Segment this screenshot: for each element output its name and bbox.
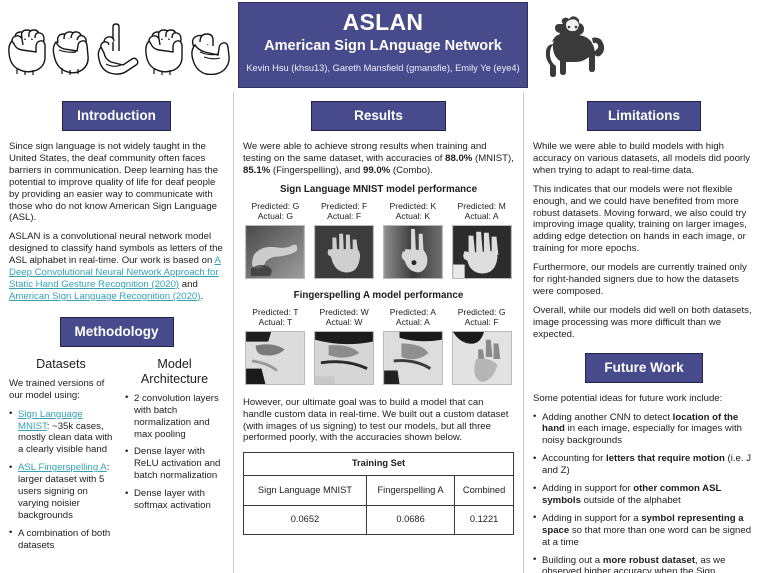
fw-item-3-pre: Adding in support for a xyxy=(542,513,641,524)
list-item: Dense layer with ReLU activation and bat… xyxy=(125,446,224,482)
list-item: 2 convolution layers with batch normaliz… xyxy=(125,393,224,441)
fw-item-4-bold: more robust dataset xyxy=(603,555,695,566)
poster-header-row: ASLAN American Sign LAnguage Network Kev… xyxy=(0,0,764,92)
list-item: Adding in support for other common ASL s… xyxy=(533,483,755,507)
section-header-future-work: Future Work xyxy=(585,353,702,383)
introduction-header-wrap: Introduction xyxy=(9,101,224,131)
table-value-cell: 0.1221 xyxy=(455,506,514,535)
link-asl-fingerspelling-a[interactable]: ASL Fingerspelling A xyxy=(18,462,107,473)
list-item: Adding in support for a symbol represent… xyxy=(533,513,755,549)
sample-card: Predicted: GActual: F xyxy=(449,307,514,385)
section-header-introduction: Introduction xyxy=(62,101,171,131)
poster-title: ASLAN xyxy=(245,9,521,36)
dataset-item-2-rest: A combination of both datasets xyxy=(18,528,110,551)
table-value-cell: 0.0686 xyxy=(366,506,454,535)
sample-actual-label: Actual: A xyxy=(396,317,430,327)
sample-predicted-label: Predicted: T xyxy=(252,307,298,317)
fw-item-2-post: outside of the alphabet xyxy=(581,495,681,506)
table-caption: Training Set xyxy=(244,453,514,476)
intro-p2-end: . xyxy=(200,291,203,302)
list-item: ASL Fingerspelling A: larger dataset wit… xyxy=(9,462,113,522)
hand-sign-thumbnail xyxy=(383,225,443,279)
column-left: Introduction Since sign language is not … xyxy=(0,92,233,573)
list-item: Adding another CNN to detect location of… xyxy=(533,412,755,448)
architecture-subsection: Model Architecture 2 convolution layers … xyxy=(125,357,224,558)
asl-fingerspelling-logo xyxy=(0,0,238,92)
sample-card: Predicted: WActual: W xyxy=(312,307,377,385)
sample-predicted-label: Predicted: F xyxy=(321,201,367,211)
limitations-paragraph-2: This indicates that our models were not … xyxy=(533,184,755,255)
limitations-paragraph-1: While we were able to build models with … xyxy=(533,141,755,177)
results-intro: We were able to achieve strong results w… xyxy=(243,141,514,177)
future-work-header-wrap: Future Work xyxy=(533,353,755,383)
poster-canvas: ASLAN American Sign LAnguage Network Kev… xyxy=(0,0,764,573)
datasets-intro: We trained versions of our model using: xyxy=(9,378,113,402)
poster-authors: Kevin Hsu (khsu13), Gareth Mansfield (gm… xyxy=(245,61,521,75)
list-item: A combination of both datasets xyxy=(9,528,113,552)
poster-columns: Introduction Since sign language is not … xyxy=(0,92,764,573)
sample-predicted-label: Predicted: A xyxy=(390,307,436,317)
sample-predicted-label: Predicted: K xyxy=(389,201,436,211)
sample-predicted-label: Predicted: M xyxy=(458,201,506,211)
poster-title-banner: ASLAN American Sign LAnguage Network Kev… xyxy=(238,2,528,88)
table-row: Sign Language MNIST Fingerspelling A Com… xyxy=(244,475,514,506)
training-set-table: Training Set Sign Language MNIST Fingers… xyxy=(243,452,514,535)
fw-item-3-post: so that more than one word can be signed… xyxy=(542,525,751,548)
hand-sign-thumbnail xyxy=(383,331,443,385)
list-item: Dense layer with softmax activation xyxy=(125,488,224,512)
fw-item-1-pre: Accounting for xyxy=(542,453,606,464)
fingerspelling-performance-caption: Fingerspelling A model performance xyxy=(243,290,514,301)
poster-subtitle: American Sign LAnguage Network xyxy=(245,36,521,56)
table-header-cell: Combined xyxy=(455,475,514,506)
sample-actual-label: Actual: G xyxy=(258,211,293,221)
results-intro-mid2: (Fingerspelling), and xyxy=(270,165,363,176)
asl-letter-l-icon xyxy=(93,23,141,75)
table-row: Training Set xyxy=(244,453,514,476)
datasets-subsection: Datasets We trained versions of our mode… xyxy=(9,357,113,558)
list-item: Building out a more robust dataset, as w… xyxy=(533,555,755,573)
hand-sign-thumbnail xyxy=(452,331,512,385)
fw-item-2-pre: Adding in support for xyxy=(542,483,633,494)
asl-letter-s-icon xyxy=(49,23,92,75)
hand-sign-thumbnail xyxy=(314,225,374,279)
sample-actual-label: Actual: F xyxy=(327,211,361,221)
sample-predicted-label: Predicted: G xyxy=(458,307,506,317)
results-intro-mid1: (MNIST), xyxy=(472,153,514,164)
methodology-header-wrap: Methodology xyxy=(9,317,224,347)
list-item: Sign Language MNIST: ~35k cases, mostly … xyxy=(9,409,113,457)
fingerspelling-sample-grid: Predicted: TActual: T Predicted: WActual… xyxy=(243,307,514,385)
hand-sign-thumbnail xyxy=(314,331,374,385)
sample-actual-label: Actual: K xyxy=(396,211,430,221)
column-right: Limitations While we were able to build … xyxy=(524,92,764,573)
limitations-header-wrap: Limitations xyxy=(533,101,755,131)
sample-actual-label: Actual: T xyxy=(258,317,292,327)
sample-card: Predicted: GActual: G xyxy=(243,201,308,279)
datasets-list: Sign Language MNIST: ~35k cases, mostly … xyxy=(9,409,113,552)
accuracy-mnist: 88.0% xyxy=(445,153,472,164)
sample-card: Predicted: FActual: F xyxy=(312,201,377,279)
future-work-list: Adding another CNN to detect location of… xyxy=(533,412,755,573)
link-asl-recognition-paper[interactable]: American Sign Language Recognition (2020… xyxy=(9,291,200,302)
table-header-cell: Sign Language MNIST xyxy=(244,475,367,506)
results-custom-note: However, our ultimate goal was to build … xyxy=(243,397,514,445)
lion-logo-icon xyxy=(536,10,610,84)
table-row: 0.0652 0.0686 0.1221 xyxy=(244,506,514,535)
accuracy-combo: 99.0% xyxy=(363,165,390,176)
lion-logo-container xyxy=(528,0,764,92)
sample-predicted-label: Predicted: W xyxy=(320,307,369,317)
hand-sign-thumbnail xyxy=(452,225,512,279)
list-item: Accounting for letters that require moti… xyxy=(533,453,755,477)
sample-card: Predicted: TActual: T xyxy=(243,307,308,385)
limitations-paragraph-3: Furthermore, our models are currently tr… xyxy=(533,262,755,298)
introduction-paragraph-2: ASLAN is a convolutional neural network … xyxy=(9,231,224,302)
mnist-sample-grid: Predicted: GActual: G Predicted: FActual… xyxy=(243,201,514,279)
table-header-cell: Fingerspelling A xyxy=(366,475,454,506)
asl-letter-n-icon xyxy=(186,23,234,75)
table-value-cell: 0.0652 xyxy=(244,506,367,535)
fw-item-1-bold: letters that require motion xyxy=(606,453,725,464)
sample-actual-label: Actual: A xyxy=(465,211,499,221)
limitations-paragraph-4: Overall, while our models did well on bo… xyxy=(533,305,755,341)
asl-letter-a2-icon xyxy=(142,23,185,75)
intro-p2-mid: and xyxy=(179,279,198,290)
methodology-grid: Datasets We trained versions of our mode… xyxy=(9,357,224,558)
hand-sign-thumbnail xyxy=(245,331,305,385)
fw-item-0-pre: Adding another CNN to detect xyxy=(542,412,673,423)
results-intro-end: (Combo). xyxy=(390,165,433,176)
sample-actual-label: Actual: F xyxy=(465,317,499,327)
section-header-methodology: Methodology xyxy=(60,317,174,347)
introduction-paragraph-1: Since sign language is not widely taught… xyxy=(9,141,224,224)
hand-sign-thumbnail xyxy=(245,225,305,279)
sample-card: Predicted: MActual: A xyxy=(449,201,514,279)
results-header-wrap: Results xyxy=(243,101,514,131)
mnist-performance-caption: Sign Language MNIST model performance xyxy=(243,184,514,195)
sample-actual-label: Actual: W xyxy=(326,317,363,327)
fw-item-0-post: in each image, especially for images wit… xyxy=(542,423,742,446)
sample-card: Predicted: KActual: K xyxy=(381,201,446,279)
future-work-intro: Some potential ideas for future work inc… xyxy=(533,393,755,405)
sample-predicted-label: Predicted: G xyxy=(251,201,299,211)
section-header-limitations: Limitations xyxy=(587,101,701,131)
asl-letter-a-icon xyxy=(5,23,48,75)
accuracy-fingerspelling: 85.1% xyxy=(243,165,270,176)
sample-card: Predicted: AActual: A xyxy=(381,307,446,385)
column-middle: Results We were able to achieve strong r… xyxy=(233,92,524,573)
architecture-list: 2 convolution layers with batch normaliz… xyxy=(125,393,224,512)
datasets-title: Datasets xyxy=(9,357,113,372)
fw-item-4-pre: Building out a xyxy=(542,555,603,566)
intro-p2-pre: ASLAN is a convolutional neural network … xyxy=(9,231,223,266)
architecture-title: Model Architecture xyxy=(125,357,224,387)
section-header-results: Results xyxy=(311,101,446,131)
